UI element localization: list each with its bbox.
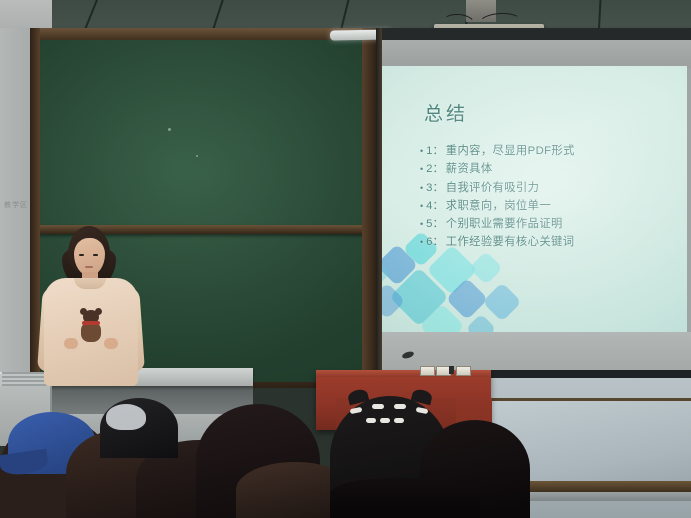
cat-face-marking bbox=[372, 404, 384, 409]
presenter bbox=[38, 226, 144, 386]
cat-face-marking bbox=[380, 418, 390, 423]
chalk-mark bbox=[196, 155, 198, 157]
slide-bullet-1: • 1： 重内容，尽显用PDF形式 bbox=[420, 146, 675, 157]
cat-face-marking bbox=[394, 418, 404, 423]
student-white-headband bbox=[106, 404, 146, 430]
bullet-number: 6： bbox=[426, 237, 444, 248]
bullet-text: 个别职业需要作品证明 bbox=[446, 219, 563, 230]
bullet-number: 2： bbox=[426, 164, 444, 175]
slide-bullet-4: • 4： 求职意向，岗位单一 bbox=[420, 201, 675, 212]
slide-bullet-6: • 6： 工作经验要有核心关键词 bbox=[420, 237, 675, 248]
bullet-text: 重内容，尽显用PDF形式 bbox=[446, 146, 575, 157]
presenter-hand bbox=[104, 338, 118, 349]
bullet-number: 4： bbox=[426, 201, 444, 212]
blackboard-top-frame bbox=[30, 28, 378, 40]
bullet-number: 1： bbox=[426, 146, 444, 157]
presenter-eye bbox=[93, 254, 98, 256]
marker bbox=[420, 366, 435, 376]
slide-bullet-list: • 1： 重内容，尽显用PDF形式 • 2： 薪资具体 • 3： 自我评价有吸引… bbox=[420, 146, 675, 256]
bullet-icon: • bbox=[420, 165, 423, 174]
presenter-eye bbox=[79, 254, 84, 256]
bullet-text: 薪资具体 bbox=[446, 164, 493, 175]
student-foreground-shoulder bbox=[330, 478, 480, 518]
slide-bullet-2: • 2： 薪资具体 bbox=[420, 164, 675, 175]
bullet-icon: • bbox=[420, 147, 423, 156]
bullet-text: 自我评价有吸引力 bbox=[446, 183, 540, 194]
bullet-icon: • bbox=[420, 220, 423, 229]
cat-face-marking bbox=[366, 418, 376, 423]
bullet-number: 5： bbox=[426, 219, 444, 230]
screen-top-roller bbox=[379, 28, 691, 40]
classroom-scene: 教学区 总结 bbox=[0, 0, 691, 518]
slide-bullet-5: • 5： 个别职业需要作品证明 bbox=[420, 219, 675, 230]
cat-face-marking bbox=[394, 404, 406, 409]
marker-cap bbox=[449, 366, 454, 374]
bullet-text: 求职意向，岗位单一 bbox=[446, 201, 551, 212]
slide-bullet-3: • 3： 自我评价有吸引力 bbox=[420, 183, 675, 194]
bullet-icon: • bbox=[420, 202, 423, 211]
bullet-icon: • bbox=[420, 184, 423, 193]
projected-slide: 总结 • 1： 重内容，尽显用PDF形式 • 2： 薪资具体 • 3： 自我评价… bbox=[382, 66, 687, 332]
bullet-number: 3： bbox=[426, 183, 444, 194]
presenter-hand bbox=[64, 338, 78, 349]
screen-blank-band bbox=[379, 40, 691, 68]
chalk-mark bbox=[168, 128, 171, 131]
slide-title: 总结 bbox=[424, 99, 468, 126]
presenter-mouth bbox=[85, 266, 93, 268]
bullet-icon: • bbox=[420, 238, 423, 247]
bullet-text: 工作经验要有核心关键词 bbox=[446, 237, 575, 248]
screen-left-edge bbox=[376, 28, 382, 378]
marker bbox=[456, 366, 471, 376]
teddy-bear-graphic bbox=[78, 310, 104, 344]
